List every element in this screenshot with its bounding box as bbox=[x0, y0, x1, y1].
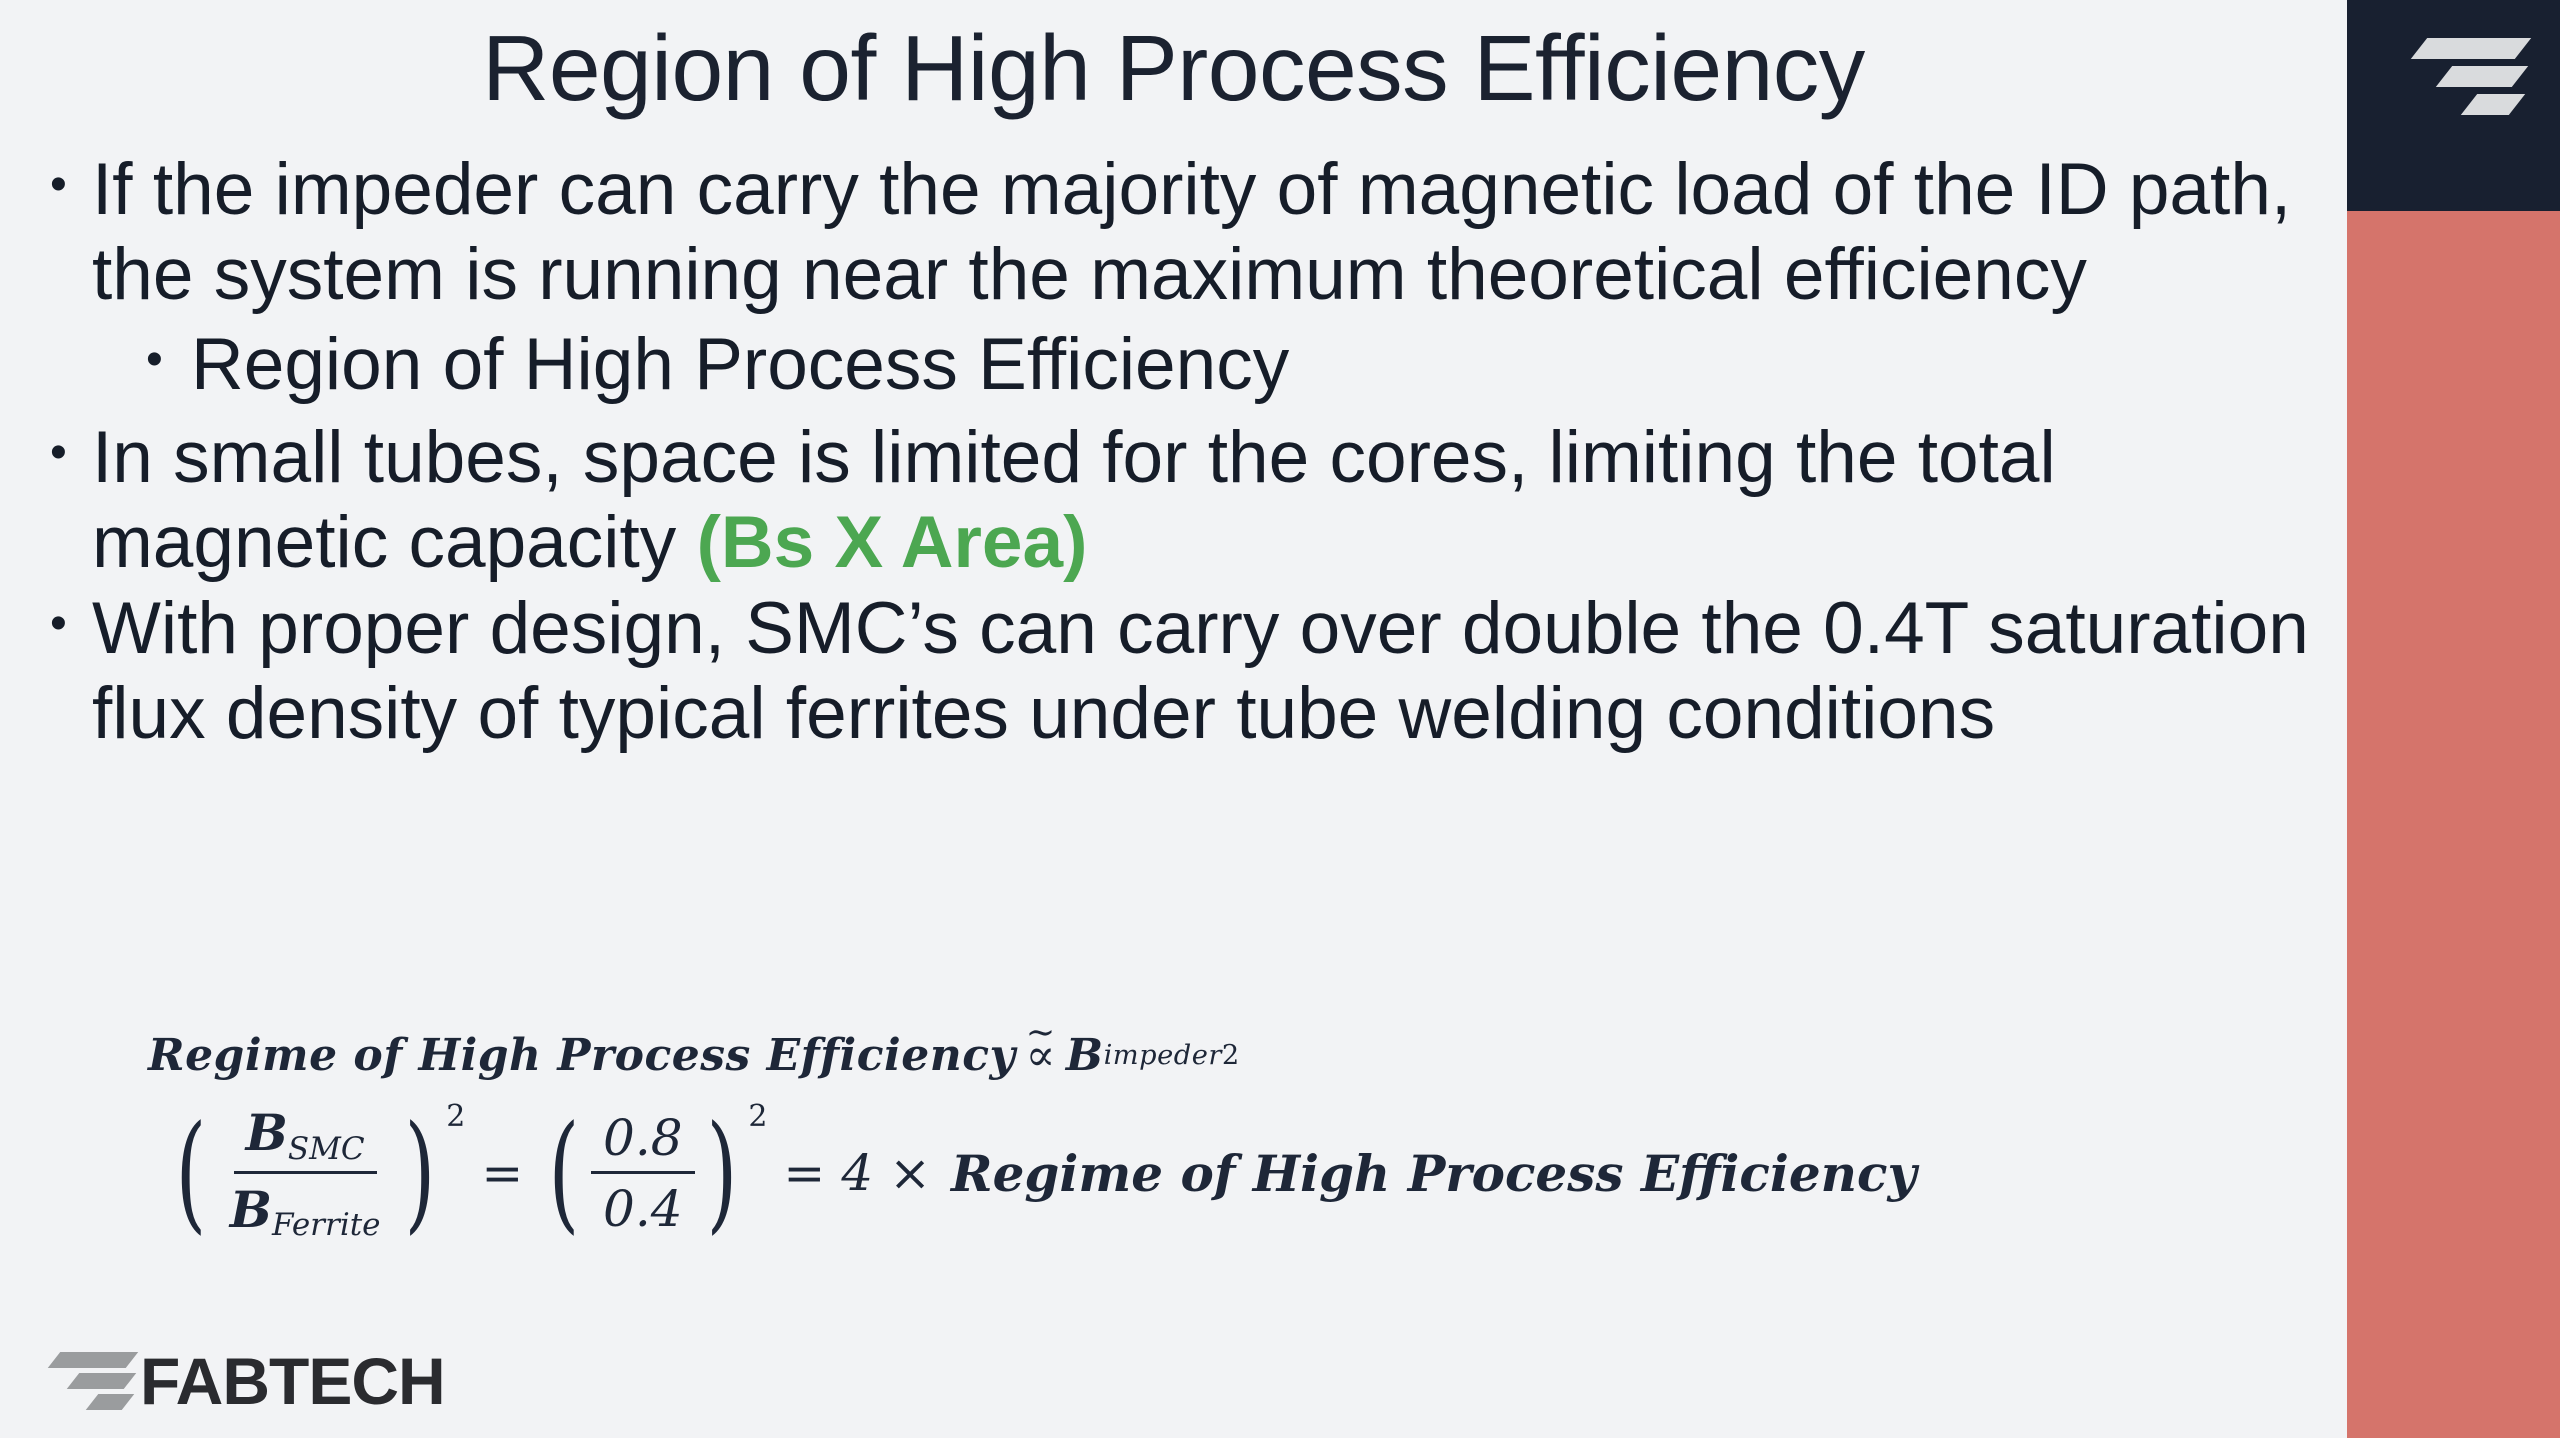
result-text: Regime of High Process Efficiency bbox=[947, 1144, 1916, 1203]
fabtech-footer-logo: FABTECH bbox=[32, 1348, 445, 1414]
equation-rhs-exponent: 2 bbox=[1222, 1040, 1240, 1071]
left-exponent: 2 bbox=[446, 1099, 465, 1134]
equals-sign-1: = bbox=[465, 1144, 539, 1202]
list-item: In small tubes, space is limited for the… bbox=[46, 416, 2336, 585]
bullet-text: Region of High Process Efficiency bbox=[191, 324, 1289, 405]
bullet-list: If the impeder can carry the majority of… bbox=[46, 148, 2336, 759]
list-item: If the impeder can carry the majority of… bbox=[46, 148, 2336, 317]
fraction-0-8-over-0-4: 0.8 0.4 bbox=[591, 1109, 695, 1238]
equation-rhs-subscript: impeder bbox=[1104, 1040, 1222, 1071]
open-paren-left: ( bbox=[175, 1134, 206, 1213]
mid-exponent: 2 bbox=[748, 1099, 767, 1134]
multiplication-sign: × bbox=[873, 1144, 947, 1202]
bullet-text: If the impeder can carry the majority of… bbox=[92, 149, 2291, 315]
equation-rhs-base: B bbox=[1066, 1030, 1104, 1081]
fraction-denominator: BFerrite bbox=[218, 1174, 393, 1244]
equals-sign-2: = bbox=[767, 1144, 841, 1202]
coral-accent-panel bbox=[2347, 211, 2560, 1438]
close-paren-left: ) bbox=[404, 1134, 435, 1213]
fraction-numerator: 0.8 bbox=[591, 1109, 695, 1174]
fraction-b-smc-over-b-ferrite: BSMC BFerrite bbox=[218, 1103, 393, 1243]
equation-block: Regime of High Process Efficiency ∼ ∝ Bi… bbox=[140, 1030, 1917, 1243]
highlight-text: (Bs X Area) bbox=[697, 502, 1088, 583]
equation-ratio: ( BSMC BFerrite ) 2 = ( 0.8 0.4 ) 2 = 4 … bbox=[166, 1103, 1917, 1243]
proportional-tilde-symbol: ∼ ∝ bbox=[1016, 1030, 1066, 1081]
page-title: Region of High Process Efficiency bbox=[0, 22, 2347, 115]
slide: Region of High Process Efficiency If the… bbox=[0, 0, 2560, 1438]
fraction-denominator: 0.4 bbox=[591, 1174, 695, 1238]
result-number: 4 bbox=[841, 1144, 873, 1202]
fabtech-wordmark: FABTECH bbox=[140, 1348, 445, 1414]
bullet-text: With proper design, SMC’s can carry over… bbox=[92, 588, 2309, 754]
right-side-panel bbox=[2347, 0, 2560, 1438]
fabtech-logo-mark-icon bbox=[2389, 38, 2519, 114]
list-item: With proper design, SMC’s can carry over… bbox=[46, 587, 2336, 756]
list-item-sub: Region of High Process Efficiency bbox=[46, 323, 2336, 408]
open-paren-mid: ( bbox=[549, 1134, 580, 1213]
equation-proportionality: Regime of High Process Efficiency ∼ ∝ Bi… bbox=[140, 1030, 1917, 1081]
dark-brand-panel bbox=[2347, 0, 2560, 211]
fabtech-logo-mark-icon bbox=[32, 1352, 130, 1410]
close-paren-mid: ) bbox=[706, 1134, 737, 1213]
fraction-numerator: BSMC bbox=[234, 1103, 377, 1174]
equation-lhs: Regime of High Process Efficiency bbox=[148, 1030, 1016, 1081]
